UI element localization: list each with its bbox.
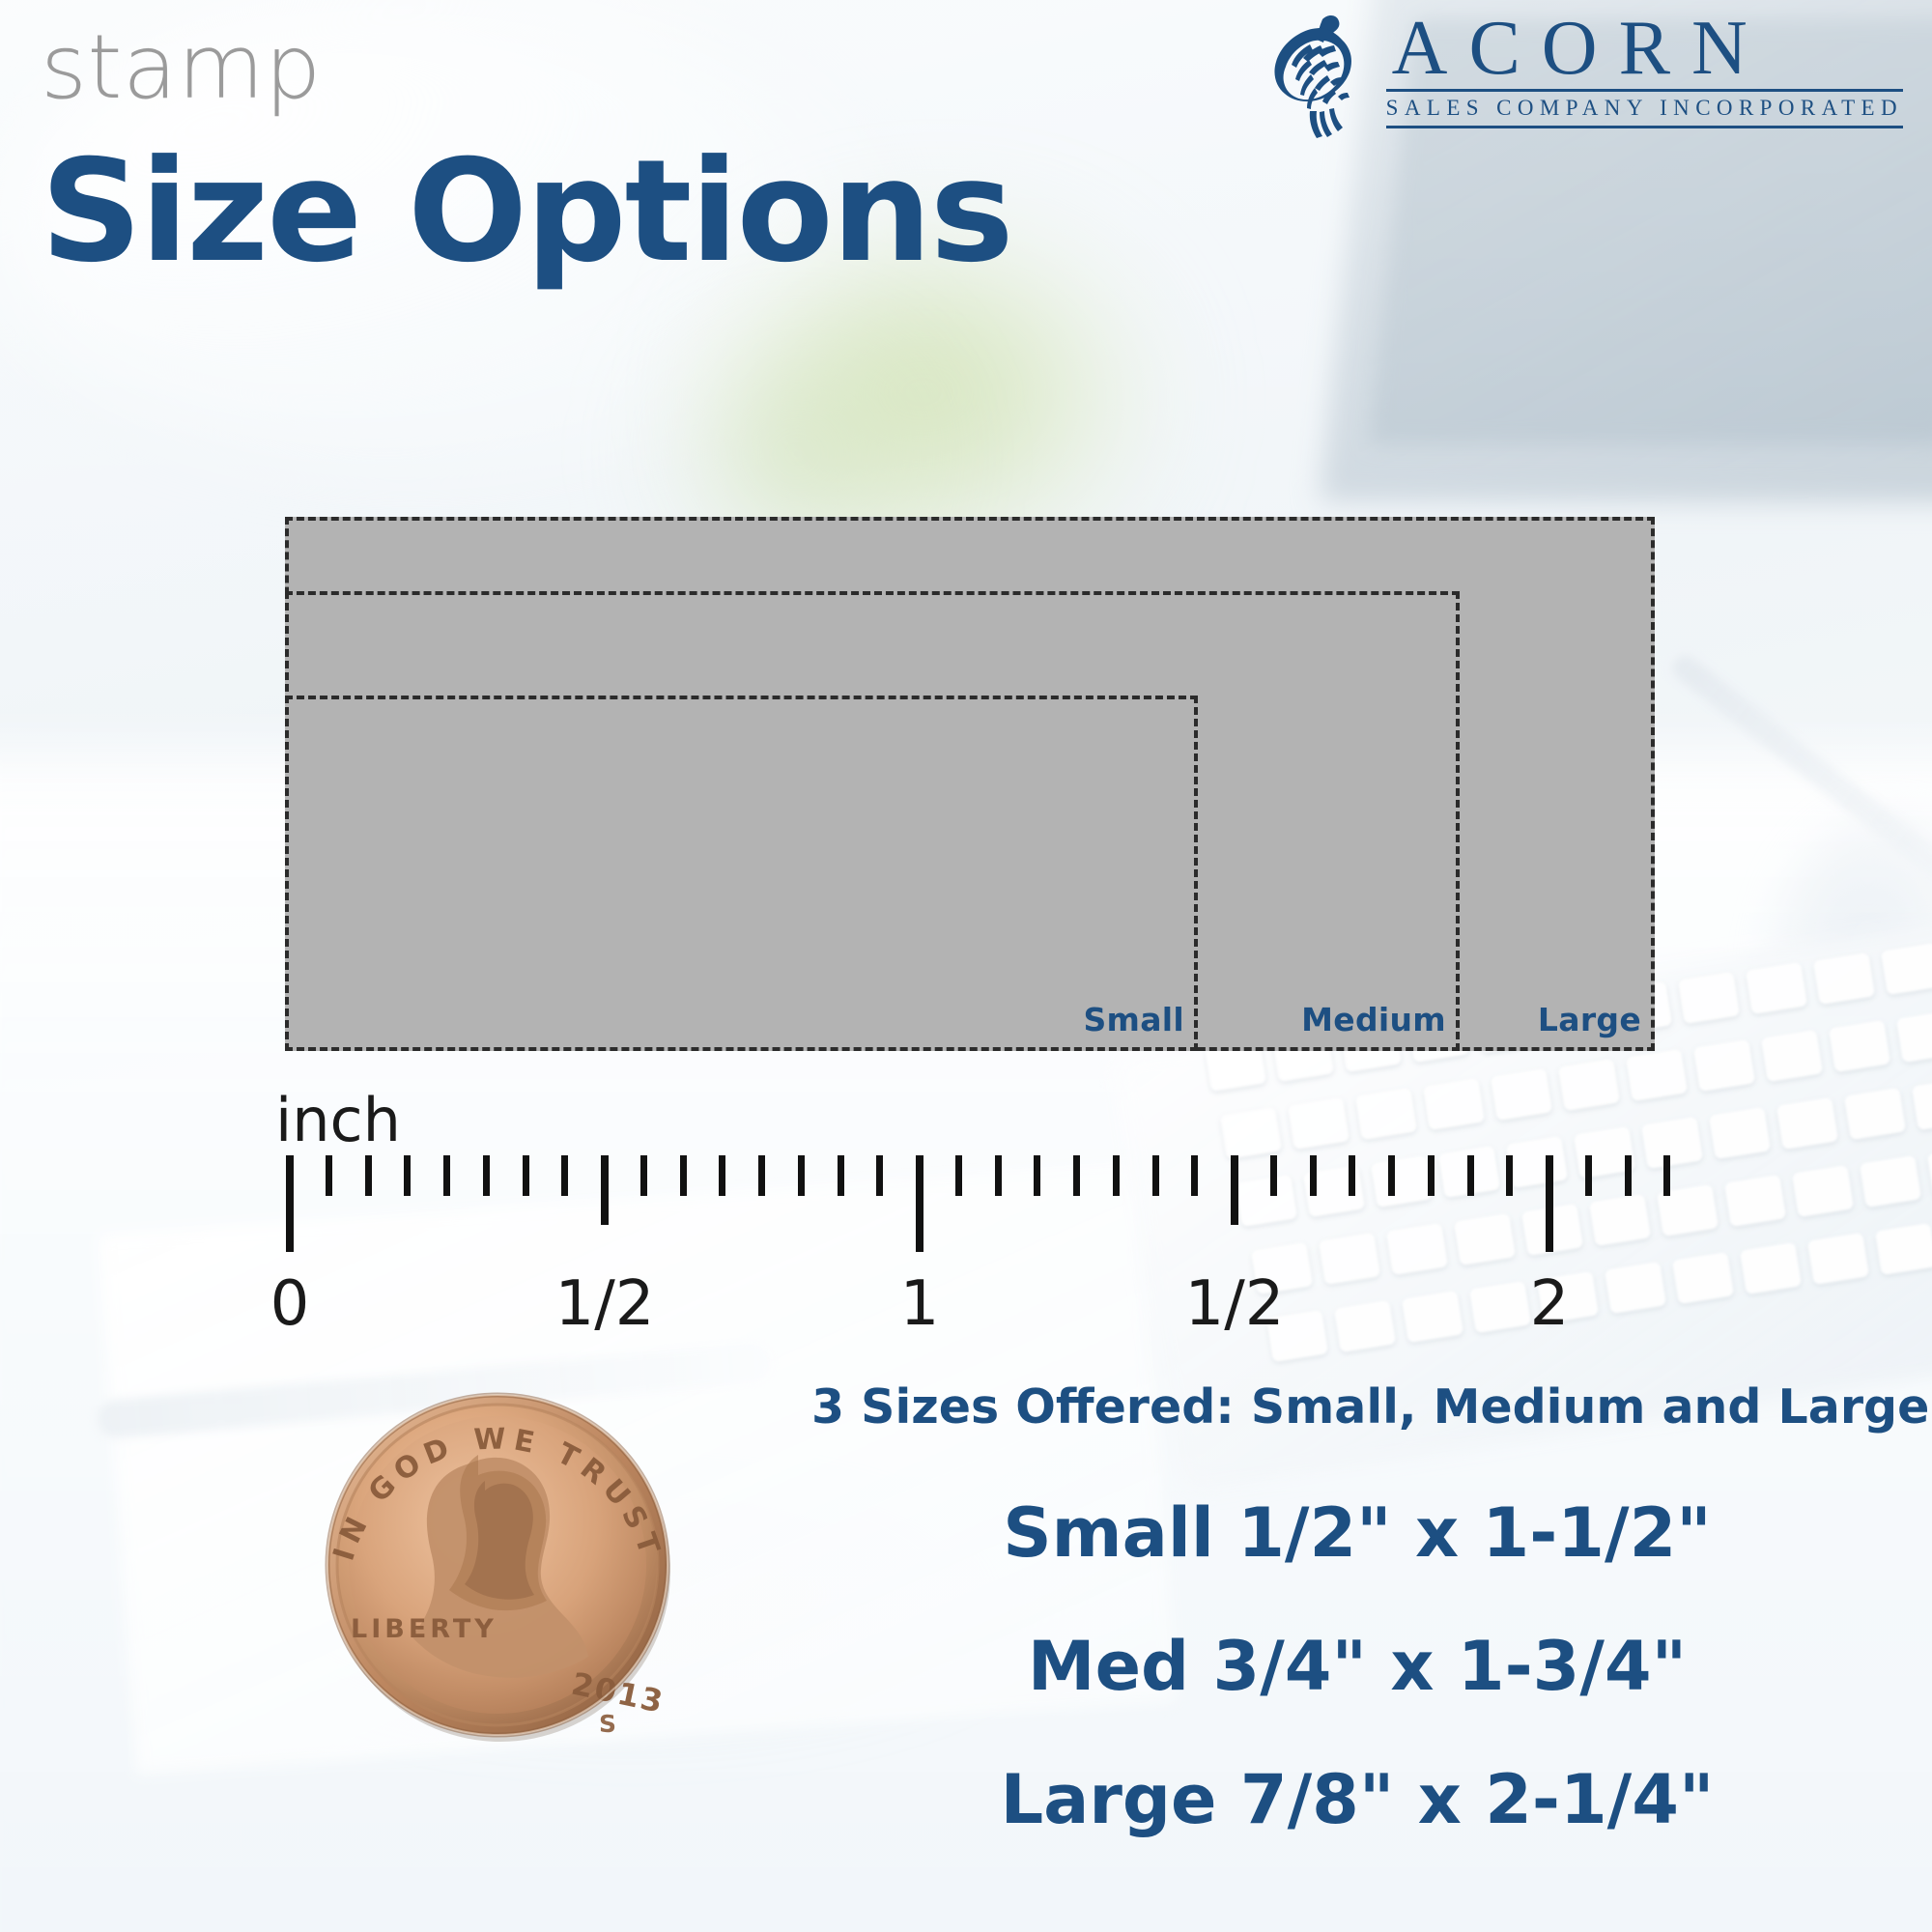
- ruler-tick-minor: [523, 1155, 529, 1196]
- ruler-tick-minor: [561, 1155, 568, 1196]
- ruler-tick-minor: [640, 1155, 647, 1196]
- penny-coin: IN GOD WE TRUST LIBERTY 2013 S: [280, 1348, 715, 1782]
- ruler-label: 1: [900, 1273, 940, 1335]
- size-info-block: 3 Sizes Offered: Small, Medium and Large…: [811, 1383, 1903, 1431]
- ruler-label: 2: [1530, 1273, 1570, 1335]
- size-box-label-small: Small: [1083, 1001, 1184, 1038]
- sizes-offered-heading: 3 Sizes Offered: Small, Medium and Large: [811, 1383, 1903, 1431]
- ruler-tick-minor: [838, 1155, 844, 1196]
- ruler-tick-minor: [1113, 1155, 1120, 1196]
- ruler-tick-minor: [1585, 1155, 1592, 1196]
- ruler-tick-minor: [1310, 1155, 1317, 1196]
- size-options-graphic: stamp Size Options ACORN SALES COMPANY I…: [0, 0, 1932, 1932]
- ruler-tick-minor: [1428, 1155, 1435, 1196]
- acorn-icon: [1264, 12, 1373, 147]
- inch-ruler: [0, 1155, 1932, 1271]
- ruler-label: 1/2: [1185, 1273, 1285, 1335]
- ruler-tick-minor: [483, 1155, 490, 1196]
- ruler-tick-half: [601, 1155, 609, 1225]
- size-line-small: Small 1/2" x 1-1/2": [811, 1499, 1903, 1567]
- svg-text:S: S: [599, 1710, 616, 1738]
- ruler-tick-minor: [443, 1155, 450, 1196]
- ruler-tick-minor: [1270, 1155, 1277, 1196]
- ruler-unit-label: inch: [275, 1085, 401, 1155]
- ruler-tick-minor: [1467, 1155, 1474, 1196]
- brand-name: ACORN: [1386, 12, 1903, 85]
- ruler-label: 0: [270, 1273, 310, 1335]
- size-box-small: [285, 696, 1198, 1051]
- ruler-tick-minor: [1191, 1155, 1198, 1196]
- ruler-tick-minor: [326, 1155, 332, 1196]
- size-line-medium: Med 3/4" x 1-3/4": [811, 1633, 1903, 1700]
- ruler-tick-minor: [955, 1155, 962, 1196]
- svg-text:LIBERTY: LIBERTY: [351, 1614, 497, 1644]
- ruler-tick-minor: [404, 1155, 411, 1196]
- ruler-tick-minor: [365, 1155, 372, 1196]
- ruler-tick-minor: [995, 1155, 1002, 1196]
- ruler-tick-major: [286, 1155, 294, 1252]
- eyebrow-stamp: stamp: [41, 23, 322, 112]
- size-box-label-large: Large: [1538, 1001, 1641, 1038]
- ruler-label: 1/2: [555, 1273, 655, 1335]
- ruler-tick-major: [1546, 1155, 1553, 1252]
- ruler-tick-minor: [1506, 1155, 1513, 1196]
- ruler-tick-minor: [798, 1155, 805, 1196]
- logo-rule-bottom: [1386, 126, 1903, 128]
- brand-logo: ACORN SALES COMPANY INCORPORATED: [1264, 12, 1903, 147]
- ruler-tick-minor: [1073, 1155, 1080, 1196]
- ruler-tick-minor: [1152, 1155, 1159, 1196]
- size-box-label-medium: Medium: [1301, 1001, 1446, 1038]
- ruler-tick-minor: [1349, 1155, 1355, 1196]
- ruler-tick-minor: [876, 1155, 883, 1196]
- ruler-tick-major: [916, 1155, 923, 1252]
- ruler-tick-minor: [1034, 1155, 1040, 1196]
- page-title: Size Options: [41, 141, 1012, 282]
- ruler-tick-minor: [680, 1155, 687, 1196]
- ruler-tick-minor: [1663, 1155, 1670, 1196]
- ruler-tick-minor: [758, 1155, 765, 1196]
- ruler-tick-minor: [719, 1155, 725, 1196]
- ruler-tick-minor: [1388, 1155, 1395, 1196]
- brand-tagline: SALES COMPANY INCORPORATED: [1386, 96, 1903, 121]
- logo-rule-top: [1386, 89, 1903, 92]
- size-line-large: Large 7/8" x 2-1/4": [811, 1766, 1903, 1833]
- ruler-tick-minor: [1625, 1155, 1632, 1196]
- ruler-tick-half: [1231, 1155, 1238, 1225]
